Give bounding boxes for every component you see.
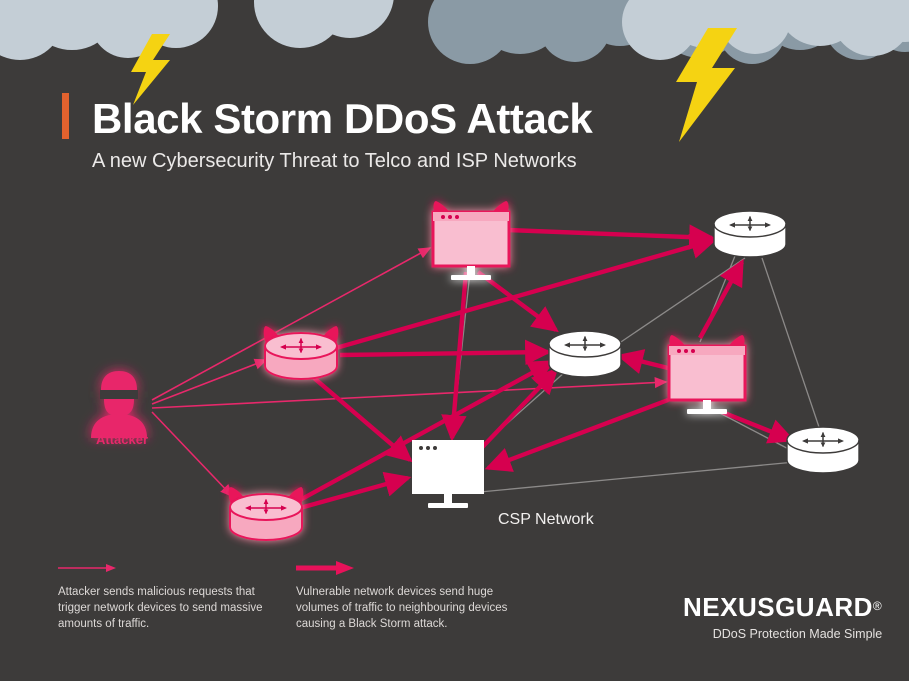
thin-arrow-icon [58,558,118,578]
thick-arrow-icon [296,558,356,578]
infographic-canvas: Black Storm DDoS Attack A new Cybersecur… [0,0,909,681]
legend-text-flood-traffic: Vulnerable network devices send huge vol… [296,584,511,632]
legend-key-thick-arrow [296,558,511,584]
legend-text-attacker-requests: Attacker sends malicious requests that t… [58,584,273,632]
title-accent-bar [62,93,69,139]
page-title: Black Storm DDoS Attack [92,95,592,143]
logo-wordmark: NEXUSGUARD [683,592,873,623]
logo-tagline: DDoS Protection Made Simple [683,627,882,641]
registered-trademark-icon: ® [873,599,882,613]
nexusguard-logo: NEXUSGUARD® DDoS Protection Made Simple [683,592,882,641]
legend-item-flood-traffic: Vulnerable network devices send huge vol… [296,558,511,632]
attacker-label: Attacker [84,432,160,447]
legend-key-thin-arrow [58,558,273,584]
page-subtitle: A new Cybersecurity Threat to Telco and … [92,150,577,173]
csp-network-label: CSP Network [498,511,594,529]
legend-item-attacker-requests: Attacker sends malicious requests that t… [58,558,273,632]
